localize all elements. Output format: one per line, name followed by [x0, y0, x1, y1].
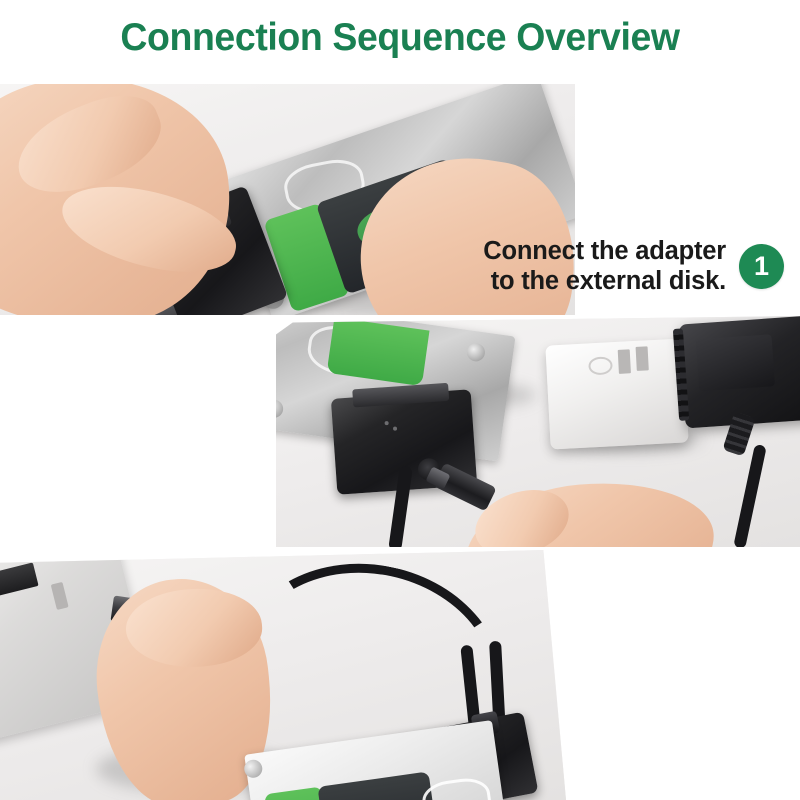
adapter-2-led-2	[393, 426, 397, 430]
adapter-2-led-1	[385, 421, 389, 425]
step-1: Connect the adapter to the external disk…	[483, 236, 784, 296]
laptop-usb-port[interactable]	[51, 582, 69, 610]
hub-usb-slot-2[interactable]	[636, 346, 649, 371]
step-2-photo	[276, 316, 800, 547]
brick-face	[696, 334, 775, 391]
power-adapter-brick	[679, 316, 800, 428]
step-3-photo	[0, 549, 566, 800]
page-title: Connection Sequence Overview	[16, 16, 784, 60]
drive-screw-3	[276, 399, 284, 419]
laptop-key-3[interactable]	[0, 562, 39, 596]
hub-indicator-ring	[588, 356, 613, 375]
infographic-page: Connection Sequence Overview	[0, 0, 800, 800]
step-1-badge: 1	[739, 244, 784, 289]
drive-ring-3	[420, 775, 493, 800]
step-panel-3: Plug in the USB porton PC/laptop. 3	[0, 549, 800, 800]
drive-label-green-2	[327, 317, 430, 386]
step-panel-2: 2 Connect to the power supply. Note: DC …	[0, 316, 800, 547]
drive-screw-2	[466, 342, 486, 362]
step-panel-1: Connect the adapter to the external disk…	[0, 84, 800, 315]
drive-label-dark-3	[317, 771, 438, 800]
step-1-text: Connect the adapter to the external disk…	[483, 236, 726, 296]
hub-usb-slot-1[interactable]	[618, 349, 631, 374]
usb-hub	[545, 338, 688, 449]
